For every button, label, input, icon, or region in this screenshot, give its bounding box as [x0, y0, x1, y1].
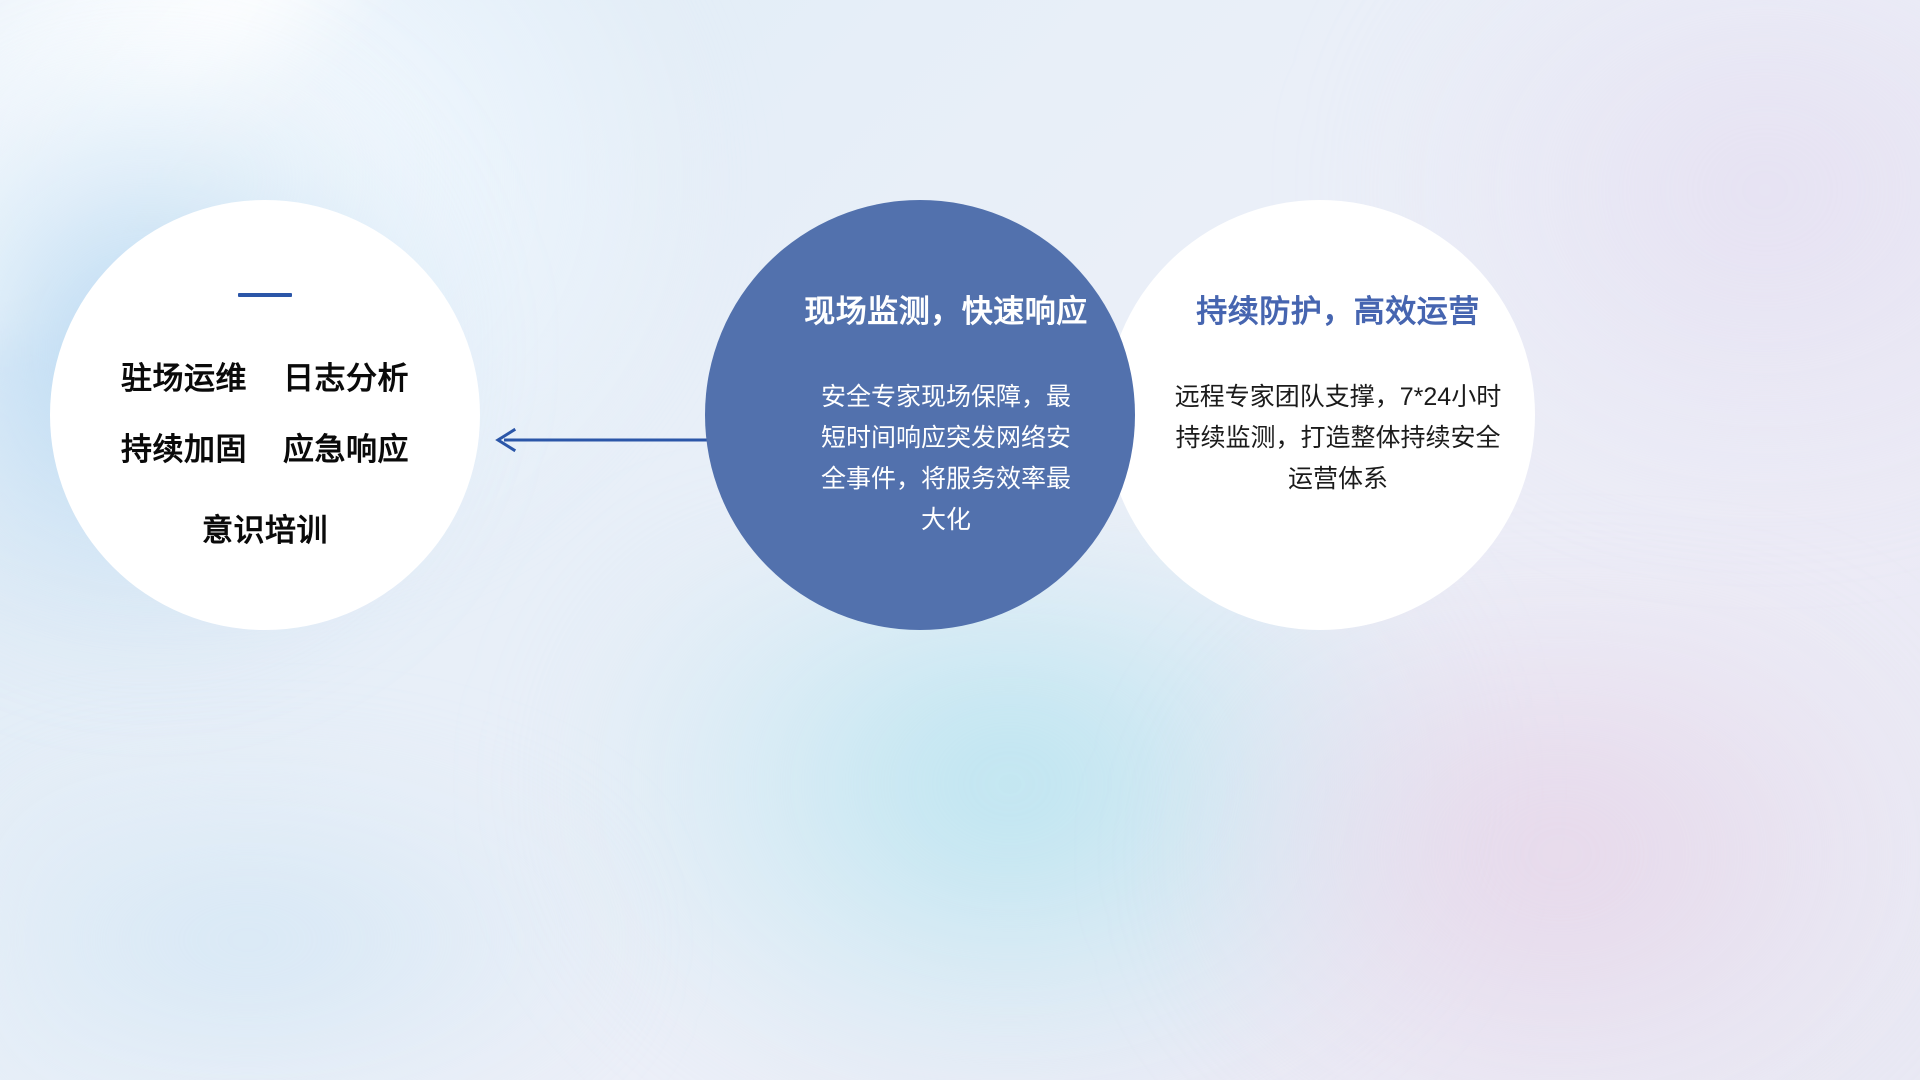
right-circle-body: 远程专家团队支撑，7*24小时持续监测，打造整体持续安全运营体系 — [1166, 377, 1510, 500]
keyword-row-2: 持续加固 应急响应 — [121, 424, 409, 469]
right-circle-content: 持续防护，高效运营 远程专家团队支撑，7*24小时持续监测，打造整体持续安全运营… — [1105, 200, 1535, 500]
keyword-yingjixiangying: 应急响应 — [283, 424, 409, 469]
middle-capability-circle[interactable]: 现场监测，快速响应 安全专家现场保障，最短时间响应突发网络安全事件，将服务效率最… — [705, 200, 1135, 630]
keyword-chixujiagu: 持续加固 — [121, 424, 247, 469]
right-circle-title: 持续防护，高效运营 — [1196, 286, 1480, 331]
left-arrow-icon — [488, 418, 718, 462]
left-circle-content: 驻场运维 日志分析 持续加固 应急响应 意识培训 — [50, 293, 480, 550]
keyword-yishipeixun: 意识培训 — [202, 505, 328, 550]
background-glow-pink-bottom-right — [1180, 620, 1920, 1080]
background-glow-bottom-left — [0, 760, 620, 1080]
right-capability-circle[interactable]: 持续防护，高效运营 远程专家团队支撑，7*24小时持续监测，打造整体持续安全运营… — [1105, 200, 1535, 630]
keyword-zhuchangyunwei: 驻场运维 — [121, 353, 247, 398]
slide-canvas: 驻场运维 日志分析 持续加固 应急响应 意识培训 持续防护，高效运营 远程专家团… — [0, 0, 1920, 1080]
keyword-rizhifenxi: 日志分析 — [283, 353, 409, 398]
title-divider-line — [238, 293, 292, 297]
middle-circle-title: 现场监测，快速响应 — [804, 286, 1088, 331]
middle-circle-body: 安全专家现场保障，最短时间响应突发网络安全事件，将服务效率最大化 — [810, 377, 1082, 541]
connector-arrow — [488, 418, 718, 462]
left-capability-circle[interactable]: 驻场运维 日志分析 持续加固 应急响应 意识培训 — [50, 200, 480, 630]
middle-circle-content: 现场监测，快速响应 安全专家现场保障，最短时间响应突发网络安全事件，将服务效率最… — [705, 200, 1135, 541]
keyword-row-1: 驻场运维 日志分析 — [121, 353, 409, 398]
